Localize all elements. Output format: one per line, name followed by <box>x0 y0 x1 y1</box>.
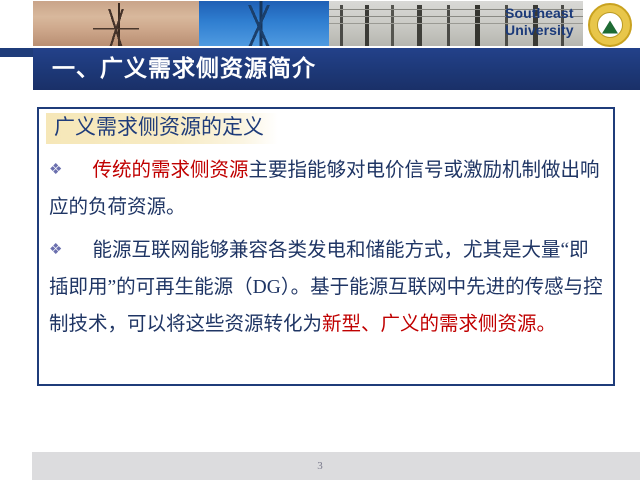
bullet-paragraph-1: ❖传统的需求侧资源主要指能够对电价信号或激励机制做出响应的负荷资源。 <box>49 152 604 226</box>
diamond-bullet-icon: ❖ <box>49 162 62 178</box>
body-text: ❖传统的需求侧资源主要指能够对电价信号或激励机制做出响应的负荷资源。 ❖能源互联… <box>49 152 604 349</box>
paragraph-2-run-2: 新型、广义的需求侧资源。 <box>322 314 556 335</box>
university-seal-icon <box>588 3 632 47</box>
paragraph-1-run-1: 传统的需求侧资源 <box>92 160 248 181</box>
page-title: 一、广义需求侧资源简介 <box>52 55 316 83</box>
transmission-tower-bluesky-photo <box>199 1 329 46</box>
transmission-tower-sunset-photo <box>33 1 199 46</box>
university-name: Southeast University <box>505 5 583 39</box>
university-name-line1: Southeast <box>505 5 583 22</box>
bullet-paragraph-2: ❖能源互联网能够兼容各类发电和储能方式，尤其是大量“即插即用”的可再生能源（DG… <box>49 232 604 343</box>
definition-heading: 广义需求侧资源的定义 <box>46 113 278 144</box>
university-name-line2: University <box>505 22 583 39</box>
page-number: 3 <box>0 452 640 480</box>
diamond-bullet-icon: ❖ <box>49 242 62 258</box>
banner-image-strip <box>33 1 583 46</box>
